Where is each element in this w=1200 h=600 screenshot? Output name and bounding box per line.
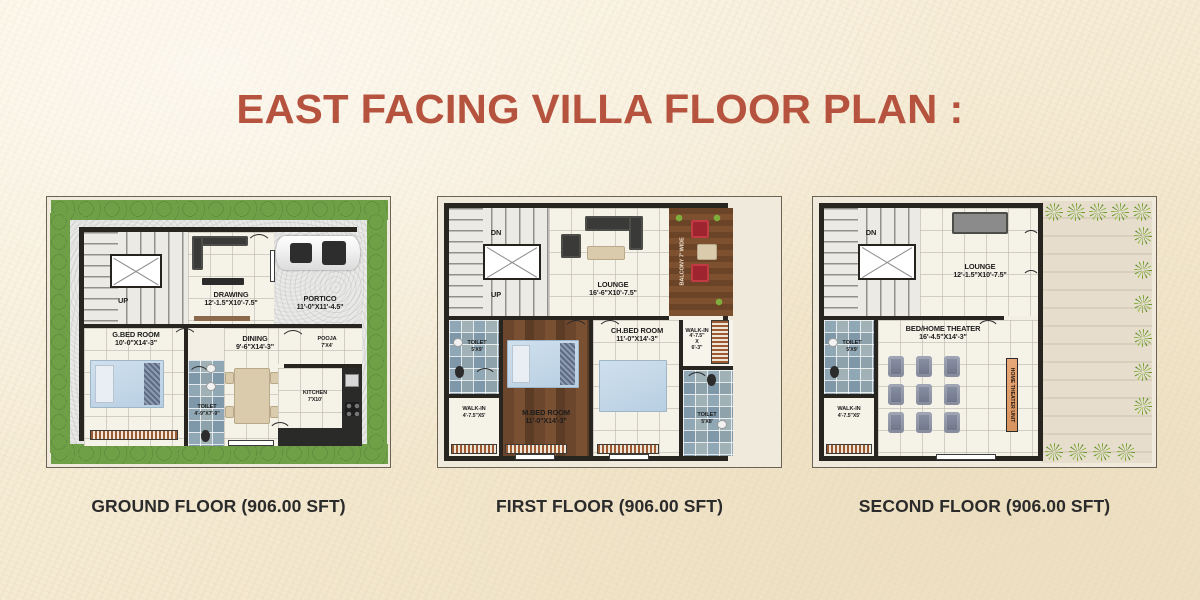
- lounge-coffee-table: [587, 246, 625, 260]
- second-lounge-door-2: [1022, 270, 1040, 288]
- first-toiletR-name: TOILET: [697, 412, 716, 418]
- second-walkin-label: WALK-IN 4'-7.5"X5': [824, 406, 874, 419]
- dining-window-bottom: [228, 440, 274, 446]
- first-exterior-walls: DN UP LOUNGE 16'-6"X10'-7.5": [444, 203, 728, 461]
- theater-seat-7: [888, 412, 904, 433]
- first-lounge-name: LOUNGE: [597, 280, 628, 289]
- theater-seat-6: [944, 384, 960, 405]
- first-walkin-right-label: WALK-IN 4'-7.5" X 6'-3": [681, 328, 713, 352]
- page-title: EAST FACING VILLA FLOOR PLAN :: [0, 86, 1200, 133]
- second-lounge-door-1: [1022, 230, 1040, 248]
- child-bed: [599, 360, 667, 412]
- ground-wc: [201, 430, 210, 442]
- gbed-dim: 10'-0"X14'-3": [88, 339, 184, 348]
- ground-floor-frame: UP PORTICO 11'-0"X11'-4.5" D: [46, 196, 391, 468]
- portico-dim: 11'-0"X11'-4.5": [280, 303, 360, 312]
- portico-name: PORTICO: [304, 294, 337, 303]
- second-staircase-flight: [824, 208, 858, 316]
- terrace-palm-9: [1134, 329, 1152, 347]
- first-toilet-right-door-arc: [685, 372, 709, 396]
- balcony-plant-1: [671, 210, 687, 226]
- lounge-sofa-side: [629, 216, 643, 250]
- parked-car[interactable]: [276, 236, 360, 270]
- second-lounge-sofa: [952, 212, 1008, 234]
- terrace-palm-15: [1117, 443, 1135, 461]
- first-walkinL-name: WALK-IN: [462, 406, 485, 412]
- drawing-dim: 12'-1.5"X10'-7.5": [188, 299, 274, 308]
- first-up-marker: UP: [485, 290, 507, 299]
- first-walkin-right-wardrobe: [711, 320, 729, 364]
- theater-seat-5: [916, 384, 932, 405]
- floor-plan-ground[interactable]: UP PORTICO 11'-0"X11'-4.5" D: [46, 196, 391, 468]
- terrace-palm-4: [1111, 203, 1129, 221]
- terrace-palm-13: [1069, 443, 1087, 461]
- drawing-tv-console: [202, 278, 244, 285]
- terrace-palm-8: [1134, 295, 1152, 313]
- theater-seat-4: [888, 384, 904, 405]
- ground-toilet-dim: 4'-9"X7'-9": [186, 411, 228, 417]
- first-floor-frame: DN UP LOUNGE 16'-6"X10'-7.5": [437, 196, 782, 468]
- second-lounge-label: LOUNGE 12'-1.5"X10'-7.5": [934, 262, 1026, 280]
- first-walkin-left-label: WALK-IN 4'-7.5"X5': [449, 406, 499, 419]
- ground-up-marker: UP: [112, 296, 134, 305]
- shrub-border-top: [51, 200, 388, 220]
- second-walkin-name: WALK-IN: [837, 406, 860, 412]
- first-floor-caption: FIRST FLOOR (906.00 SFT): [437, 496, 782, 517]
- car-rear-glass: [322, 241, 346, 265]
- balcony-chair-1: [691, 220, 709, 238]
- shrub-border-right: [367, 213, 387, 453]
- terrace-palm-6: [1134, 227, 1152, 245]
- ground-toilet-name: TOILET: [197, 404, 216, 410]
- terrace-palm-11: [1134, 397, 1152, 415]
- first-staircase-flight: [449, 208, 483, 316]
- kitchen-dim: 7'X10': [288, 397, 342, 403]
- second-dn-marker: DN: [860, 228, 882, 237]
- home-theater-unit-label: HOME THEATER UNIT: [1009, 368, 1015, 423]
- kitchen-sink-icon: [345, 374, 359, 387]
- first-toiletR-dim: 5'X8': [685, 419, 729, 425]
- second-toilet-dim: 5'X9': [830, 347, 874, 353]
- gbed-quilt: [144, 363, 160, 404]
- balcony-plant-3: [711, 294, 727, 310]
- child-bed-window: [597, 444, 659, 454]
- kitchen-stove-icon: [345, 402, 359, 416]
- ground-stairwell: [110, 254, 162, 288]
- theater-seat-3: [944, 356, 960, 377]
- second-floor-frame: DN LOUNGE 12'-1.5"X10'-7.5": [812, 196, 1157, 468]
- pooja-name: POOJA: [317, 336, 336, 342]
- second-toilet-label: TOILET 5'X9': [830, 340, 874, 353]
- first-walkinL-dim: 4'-7.5"X5': [449, 413, 499, 419]
- first-toilet-left-wc: [455, 366, 464, 378]
- first-toiletL-dim: 5'X9': [455, 347, 499, 353]
- balcony-chair-2: [691, 264, 709, 282]
- terrace-palm-7: [1134, 261, 1152, 279]
- kitchen-name: KITCHEN: [303, 390, 327, 396]
- terrace-palm-12: [1045, 443, 1063, 461]
- floor-plan-second[interactable]: DN LOUNGE 12'-1.5"X10'-7.5": [812, 196, 1157, 468]
- floor-plan-first[interactable]: DN UP LOUNGE 16'-6"X10'-7.5": [437, 196, 782, 468]
- first-lounge-dim: 16'-6"X10'-7.5": [569, 289, 657, 298]
- second-floor-caption: SECOND FLOOR (906.00 SFT): [812, 496, 1157, 517]
- terrace-palm-14: [1093, 443, 1111, 461]
- gbed-window: [90, 430, 178, 440]
- dining-chair-2: [225, 406, 234, 418]
- master-bed-door-arc: [563, 320, 589, 346]
- ground-exterior-walls: UP PORTICO 11'-0"X11'-4.5" D: [79, 227, 357, 441]
- master-bed-window: [505, 444, 567, 454]
- theater-name: BED/HOME THEATER: [906, 324, 981, 333]
- ground-kitchen-label: KITCHEN 7'X10': [288, 390, 342, 403]
- first-walkinR-dim2: 6'-3": [681, 346, 713, 352]
- terrace-palm-2: [1067, 203, 1085, 221]
- drawing-entry-door-arc: [246, 234, 272, 260]
- car-windshield: [290, 243, 312, 263]
- drawing-console-rug: [194, 316, 250, 321]
- ground-floor-caption: GROUND FLOOR (906.00 SFT): [46, 496, 391, 517]
- home-theater-unit: HOME THEATER UNIT: [1006, 358, 1018, 432]
- second-exterior-walls: DN LOUNGE 12'-1.5"X10'-7.5": [819, 203, 1043, 461]
- second-toilet-wc: [830, 366, 839, 378]
- gbed-pillow: [95, 365, 114, 404]
- first-lounge-label: LOUNGE 16'-6"X10'-7.5": [569, 280, 657, 298]
- floor-plans-container: UP PORTICO 11'-0"X11'-4.5" D: [0, 196, 1200, 481]
- drawing-window-right: [270, 250, 275, 282]
- second-lounge-name: LOUNGE: [964, 262, 995, 271]
- first-balcony-label: BALCONY 7' WIDE: [680, 225, 687, 297]
- first-toilet-left-door-arc: [473, 368, 497, 392]
- mbed-name: M.BED ROOM: [522, 408, 570, 417]
- second-stairwell: [858, 244, 916, 280]
- theater-seat-2: [916, 356, 932, 377]
- second-toilet: [824, 320, 874, 394]
- first-dn-marker: DN: [485, 228, 507, 237]
- second-lounge-dim: 12'-1.5"X10'-7.5": [934, 271, 1026, 280]
- dining-table: [234, 368, 270, 424]
- first-master-label: M.BED ROOM 11'-0"X14'-3": [501, 408, 591, 426]
- balcony-plant-2: [709, 210, 725, 226]
- ground-gbed-label: G.BED ROOM 10'-0"X14'-3": [88, 330, 184, 348]
- first-walkin-left-window: [451, 444, 497, 454]
- dining-name: DINING: [242, 334, 267, 343]
- gbed-door-arc: [172, 328, 198, 354]
- theater-seat-9: [944, 412, 960, 433]
- lounge-armchair: [561, 234, 581, 258]
- second-walkin-window: [826, 444, 872, 454]
- master-bed-window-glass: [515, 454, 555, 460]
- second-toilet-name: TOILET: [842, 340, 861, 346]
- first-stairwell: [483, 244, 541, 280]
- balcony-table: [697, 244, 717, 260]
- drawing-sofa-arm: [192, 236, 203, 270]
- ground-drawing-label: DRAWING 12'-1.5"X10'-7.5": [188, 290, 274, 308]
- pooja-dim: 7'X4': [296, 343, 358, 349]
- shrub-border-bottom: [51, 444, 388, 464]
- second-walkin-dim: 4'-7.5"X5': [824, 413, 874, 419]
- ground-toilet-label: TOILET 4'-9"X7'-9": [186, 404, 228, 417]
- master-bed: [507, 340, 579, 388]
- child-bed-door-arc: [597, 320, 623, 346]
- terrace-palm-10: [1134, 363, 1152, 381]
- master-bed-pillow: [512, 345, 530, 384]
- theater-seat-8: [916, 412, 932, 433]
- theater-window-bottom: [936, 454, 996, 460]
- master-bed-quilt: [560, 343, 575, 384]
- dining-chair-1: [225, 372, 234, 384]
- theater-door-arc: [976, 320, 1000, 344]
- gbed-name: G.BED ROOM: [112, 330, 159, 339]
- first-toiletL-name: TOILET: [467, 340, 486, 346]
- first-toilet-right-label: TOILET 5'X8': [685, 412, 729, 425]
- ground-portico-label: PORTICO 11'-0"X11'-4.5": [280, 294, 360, 312]
- shrub-border-left: [50, 213, 70, 453]
- mbed-dim: 11'-0"X14'-3": [501, 417, 591, 426]
- dining-door-arc: [188, 366, 210, 388]
- child-bed-window-glass: [609, 454, 649, 460]
- gbed-bed: [90, 360, 164, 408]
- theater-seat-1: [888, 356, 904, 377]
- terrace-palm-1: [1045, 203, 1063, 221]
- terrace-palm-3: [1089, 203, 1107, 221]
- ground-pooja-label: POOJA 7'X4': [296, 336, 358, 349]
- first-toilet-left-label: TOILET 5'X9': [455, 340, 499, 353]
- drawing-name: DRAWING: [213, 290, 248, 299]
- terrace-palm-5: [1133, 203, 1151, 221]
